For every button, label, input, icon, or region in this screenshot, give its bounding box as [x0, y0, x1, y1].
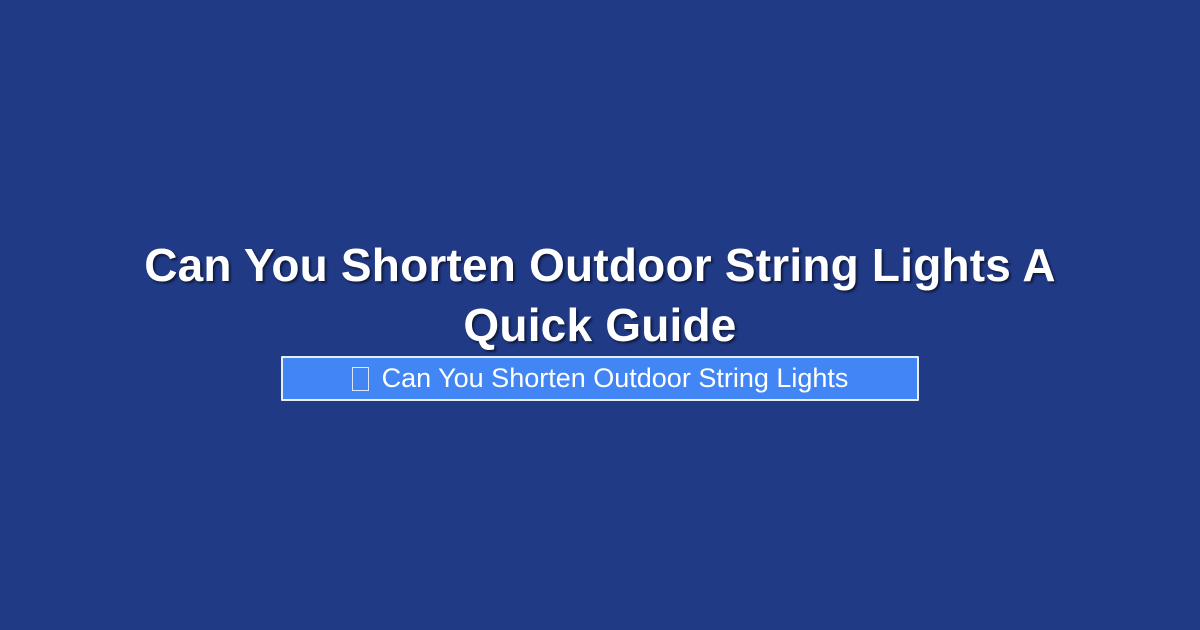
page-title: Can You Shorten Outdoor String Lights A … [80, 235, 1120, 355]
cta-button[interactable]: Can You Shorten Outdoor String Lights [281, 356, 919, 401]
social-share-card: Can You Shorten Outdoor String Lights A … [0, 0, 1200, 630]
cta-button-label: Can You Shorten Outdoor String Lights [382, 365, 849, 392]
missing-glyph-box-icon [352, 367, 369, 391]
